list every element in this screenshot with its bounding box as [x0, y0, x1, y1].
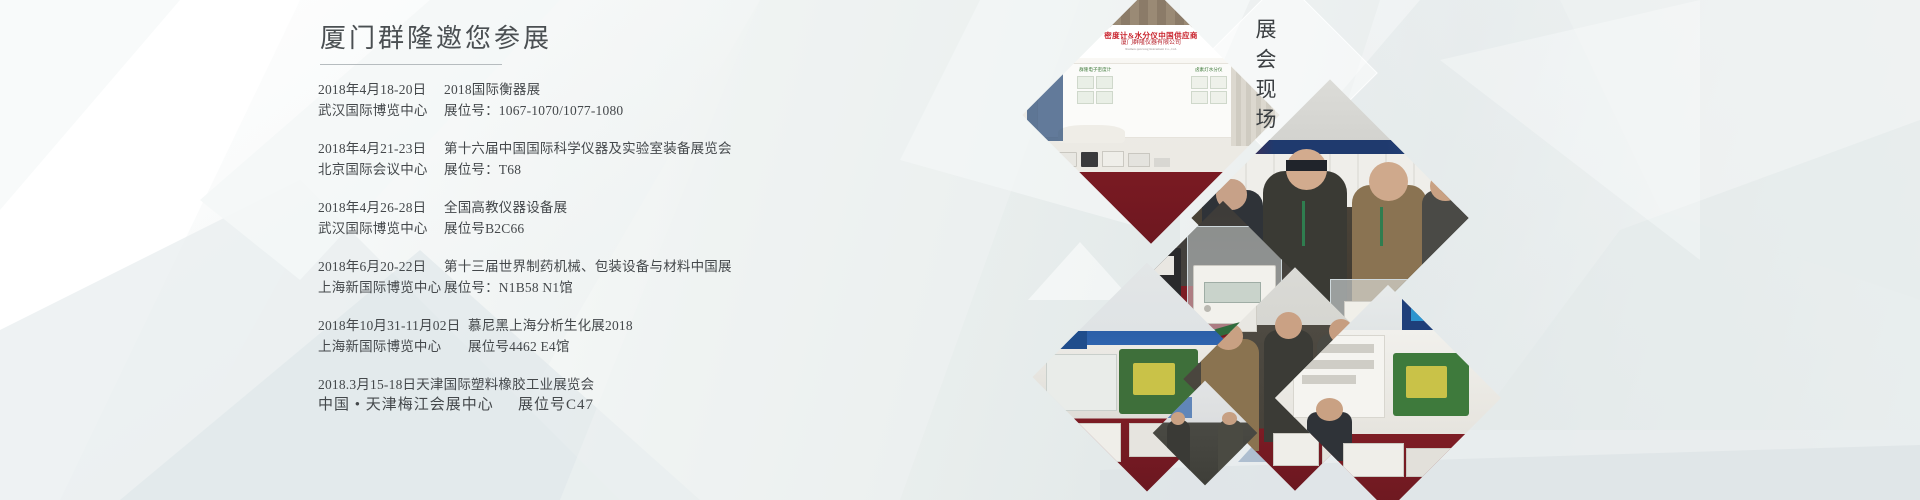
event-venue: 武汉国际博览中心 [318, 100, 444, 121]
event-venue: 上海新国际博览中心 [318, 277, 444, 298]
event-name: 慕尼黑上海分析生化展2018 [468, 315, 633, 336]
banner-headline: 密度计&水分仪中国供应商 [1104, 31, 1198, 40]
event-date: 2018年4月21-23日 [318, 138, 444, 159]
banner-stage: 厦门群隆邀您参展 2018年4月18-20日 2018国际衡器展 武汉国际博览中… [0, 0, 1920, 500]
event-item: 2018年4月18-20日 2018国际衡器展 武汉国际博览中心 展位号：106… [318, 79, 968, 121]
banner-company: 厦门群隆仪器有限公司 [1121, 40, 1181, 47]
title-underline [320, 64, 502, 65]
event-line-primary: 2018年4月18-20日 2018国际衡器展 [318, 79, 968, 100]
event-line-secondary: 上海新国际博览中心 展位号：N1B58 N1馆 [318, 277, 968, 298]
event-booth: 展位号4462 E4馆 [468, 336, 570, 357]
event-venue: 中国 • 天津梅江会展中心 [318, 395, 518, 416]
event-date: 2018.3月15-18日天津国际塑料橡胶工业展览会 [318, 374, 594, 395]
event-venue: 北京国际会议中心 [318, 159, 444, 180]
event-line-primary: 2018.3月15-18日天津国际塑料橡胶工业展览会 [318, 374, 968, 395]
event-booth: 展位号：1067-1070/1077-1080 [444, 100, 623, 121]
event-booth: 展位号B2C66 [444, 218, 524, 239]
banner-company-en: Xiamen qun long Instrument Co., Ltd. [1125, 47, 1177, 52]
event-line-secondary: 北京国际会议中心 展位号：T68 [318, 159, 968, 180]
exhibition-site-caption: 展会现场 [1246, 18, 1280, 138]
event-date: 2018年4月26-28日 [318, 197, 444, 218]
event-item: 2018年6月20-22日 第十三届世界制药机械、包装设备与材料中国展 上海新国… [318, 256, 968, 298]
event-booth: 展位号：T68 [444, 159, 521, 180]
event-item: 2018年4月26-28日 全国高教仪器设备展 武汉国际博览中心 展位号B2C6… [318, 197, 968, 239]
event-item: 2018年4月21-23日 第十六届中国国际科学仪器及实验室装备展览会 北京国际… [318, 138, 968, 180]
event-date: 2018年4月18-20日 [318, 79, 444, 100]
event-line-primary: 2018年6月20-22日 第十三届世界制药机械、包装设备与材料中国展 [318, 256, 968, 277]
event-line-secondary: 武汉国际博览中心 展位号B2C66 [318, 218, 968, 239]
event-name: 全国高教仪器设备展 [444, 197, 567, 218]
page-title: 厦门群隆邀您参展 [320, 22, 968, 56]
event-line-secondary: 中国 • 天津梅江会展中心 展位号C47 [318, 395, 968, 416]
event-item: 2018.3月15-18日天津国际塑料橡胶工业展览会 中国 • 天津梅江会展中心… [318, 374, 968, 416]
event-name: 第十三届世界制药机械、包装设备与材料中国展 [444, 256, 732, 277]
event-item: 2018年10月31-11月02日 慕尼黑上海分析生化展2018 上海新国际博览… [318, 315, 968, 357]
invitation-text-block: 厦门群隆邀您参展 2018年4月18-20日 2018国际衡器展 武汉国际博览中… [318, 22, 968, 433]
event-booth: 展位号C47 [518, 395, 594, 416]
photo-collage: 密度计&水分仪中国供应商 厦门群隆仪器有限公司 Xiamen qun long … [1020, 0, 1440, 500]
event-name: 2018国际衡器展 [444, 79, 540, 100]
event-line-primary: 2018年10月31-11月02日 慕尼黑上海分析生化展2018 [318, 315, 968, 336]
event-line-primary: 2018年4月21-23日 第十六届中国国际科学仪器及实验室装备展览会 [318, 138, 968, 159]
event-date: 2018年10月31-11月02日 [318, 315, 468, 336]
panel-label-left: 群隆电子密度计 [1041, 67, 1149, 73]
event-date: 2018年6月20-22日 [318, 256, 444, 277]
event-booth: 展位号：N1B58 N1馆 [444, 277, 573, 298]
event-name: 第十六届中国国际科学仪器及实验室装备展览会 [444, 138, 732, 159]
event-line-primary: 2018年4月26-28日 全国高教仪器设备展 [318, 197, 968, 218]
event-line-secondary: 上海新国际博览中心 展位号4462 E4馆 [318, 336, 968, 357]
event-venue: 武汉国际博览中心 [318, 218, 444, 239]
event-venue: 上海新国际博览中心 [318, 336, 468, 357]
event-line-secondary: 武汉国际博览中心 展位号：1067-1070/1077-1080 [318, 100, 968, 121]
